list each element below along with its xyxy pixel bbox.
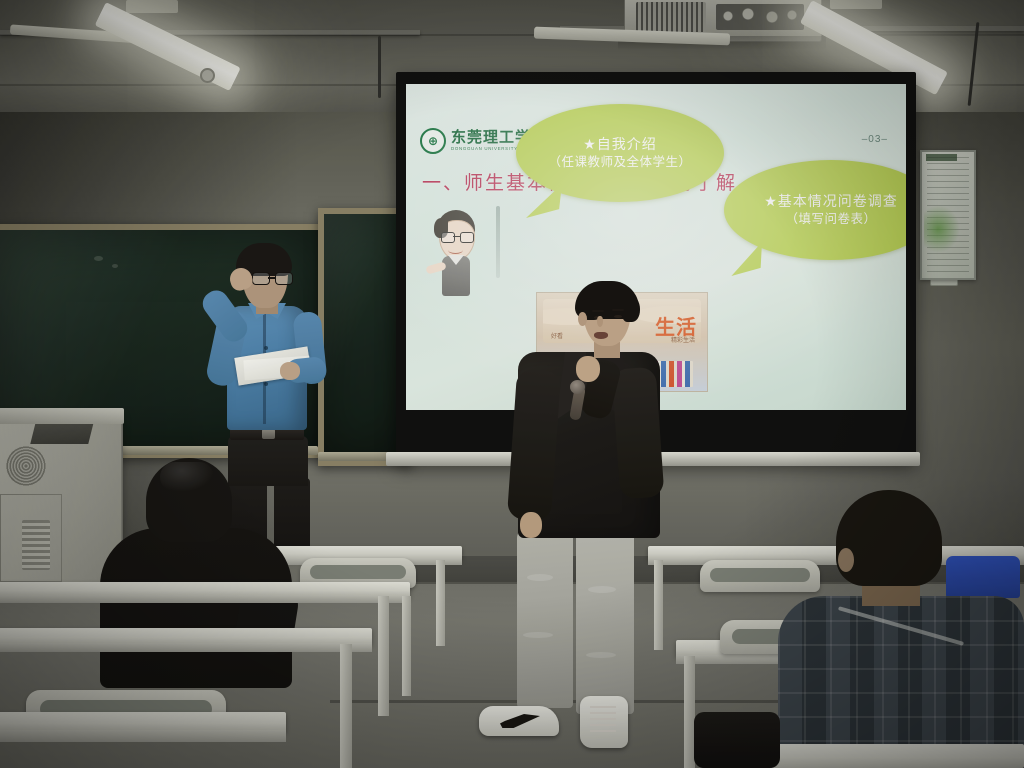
desk-top bbox=[0, 712, 286, 732]
student-arm-right bbox=[612, 367, 665, 500]
lamp-clip-left bbox=[200, 68, 215, 83]
seated-student-left-hair-highlight bbox=[160, 462, 214, 492]
student-hand-holding-mic bbox=[576, 356, 600, 382]
teacher-shirt-button bbox=[264, 346, 268, 350]
pants-fold bbox=[523, 632, 553, 638]
backpack[interactable] bbox=[694, 712, 780, 768]
podium-speaker-grille bbox=[6, 446, 46, 486]
teacher-hand-right bbox=[280, 362, 300, 380]
student-hair-side bbox=[622, 296, 640, 322]
student-pants-right bbox=[576, 528, 634, 714]
chair-backrest bbox=[710, 568, 810, 582]
blackboard-sheen bbox=[324, 214, 406, 460]
teacher-glasses-icon bbox=[252, 272, 292, 284]
seated-student-right-ear bbox=[838, 548, 854, 572]
desk-leg bbox=[340, 644, 352, 768]
wall-notice bbox=[920, 150, 976, 280]
pants-fold bbox=[527, 574, 553, 581]
chalk-mark bbox=[112, 264, 118, 268]
desk-edge bbox=[0, 730, 286, 742]
desk-edge bbox=[0, 595, 410, 603]
student-ear bbox=[578, 312, 587, 326]
chair-backrest bbox=[310, 565, 406, 579]
podium-vent bbox=[22, 520, 50, 570]
projector-vent bbox=[636, 2, 706, 32]
teacher-glasses-bridge bbox=[268, 277, 275, 279]
desk-leg bbox=[436, 560, 445, 646]
chair[interactable] bbox=[700, 560, 820, 592]
projector-ports bbox=[716, 4, 804, 30]
wall-notice-graphic bbox=[924, 205, 960, 253]
desk-leg bbox=[654, 560, 663, 650]
teacher-belt-buckle bbox=[262, 429, 275, 439]
shoe-laces bbox=[590, 706, 616, 736]
teacher-leg-right bbox=[274, 478, 310, 554]
classroom-photo: ⊕ 东莞理工学院 DONGGUAN UNIVERSITY OF TECHNOLO… bbox=[0, 0, 1024, 768]
blue-plastic-chair[interactable] bbox=[946, 556, 1020, 598]
desk-leg bbox=[402, 596, 411, 696]
podium-lid bbox=[0, 408, 124, 424]
teacher-hips bbox=[228, 436, 308, 486]
teacher-lens bbox=[275, 272, 293, 285]
student-nose bbox=[597, 316, 603, 327]
seated-student-right-head bbox=[836, 490, 942, 586]
student-pants-left bbox=[517, 528, 573, 708]
wall-cable bbox=[378, 36, 381, 98]
lamp-mount-left bbox=[126, 0, 178, 13]
microphone-head bbox=[570, 380, 585, 394]
pants-fold bbox=[586, 652, 616, 658]
desk-leg bbox=[378, 596, 389, 716]
student-mouth bbox=[594, 332, 608, 339]
desk-edge bbox=[0, 643, 372, 652]
pants-fold bbox=[588, 586, 616, 593]
chalk-mark bbox=[94, 256, 103, 261]
teacher-shirt-button bbox=[264, 382, 268, 386]
seated-student-right-body bbox=[778, 596, 1024, 768]
lamp-mount-right bbox=[830, 0, 882, 9]
student-hand-left bbox=[520, 512, 542, 538]
